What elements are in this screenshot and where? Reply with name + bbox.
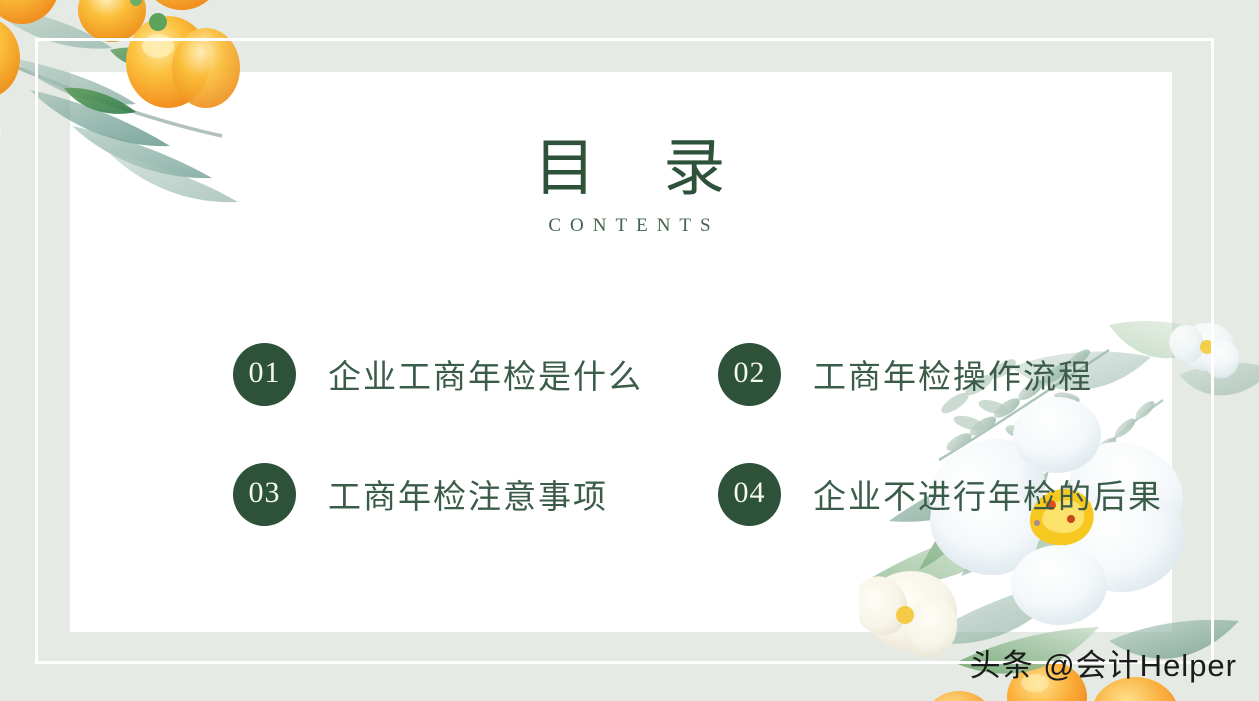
toc-item-04[interactable]: 04 企业不进行年检的后果 [718, 434, 1163, 554]
toc-number-badge: 03 [233, 463, 296, 526]
toc-number-badge: 02 [718, 343, 781, 406]
watermark-label: 头条 @会计Helper [970, 640, 1237, 685]
toc-item-03[interactable]: 03 工商年检注意事项 [233, 434, 718, 554]
toc-item-label: 企业不进行年检的后果 [813, 470, 1163, 518]
table-of-contents: 01 企业工商年检是什么 02 工商年检操作流程 03 工商年检注意事项 04 … [233, 314, 1163, 554]
toc-item-label: 工商年检注意事项 [328, 470, 608, 518]
title-english: CONTENTS [0, 215, 1259, 237]
title-chinese: 目 录 [0, 134, 1259, 205]
toc-item-label: 工商年检操作流程 [813, 350, 1093, 398]
toc-item-label: 企业工商年检是什么 [328, 350, 643, 398]
toc-item-01[interactable]: 01 企业工商年检是什么 [233, 314, 718, 434]
toc-item-02[interactable]: 02 工商年检操作流程 [718, 314, 1163, 434]
presentation-slide: 目 录 CONTENTS 01 企业工商年检是什么 02 工商年检操作流程 03… [0, 0, 1259, 701]
toc-number-badge: 04 [718, 463, 781, 526]
toc-number-badge: 01 [233, 343, 296, 406]
page-title: 目 录 CONTENTS [0, 134, 1259, 237]
